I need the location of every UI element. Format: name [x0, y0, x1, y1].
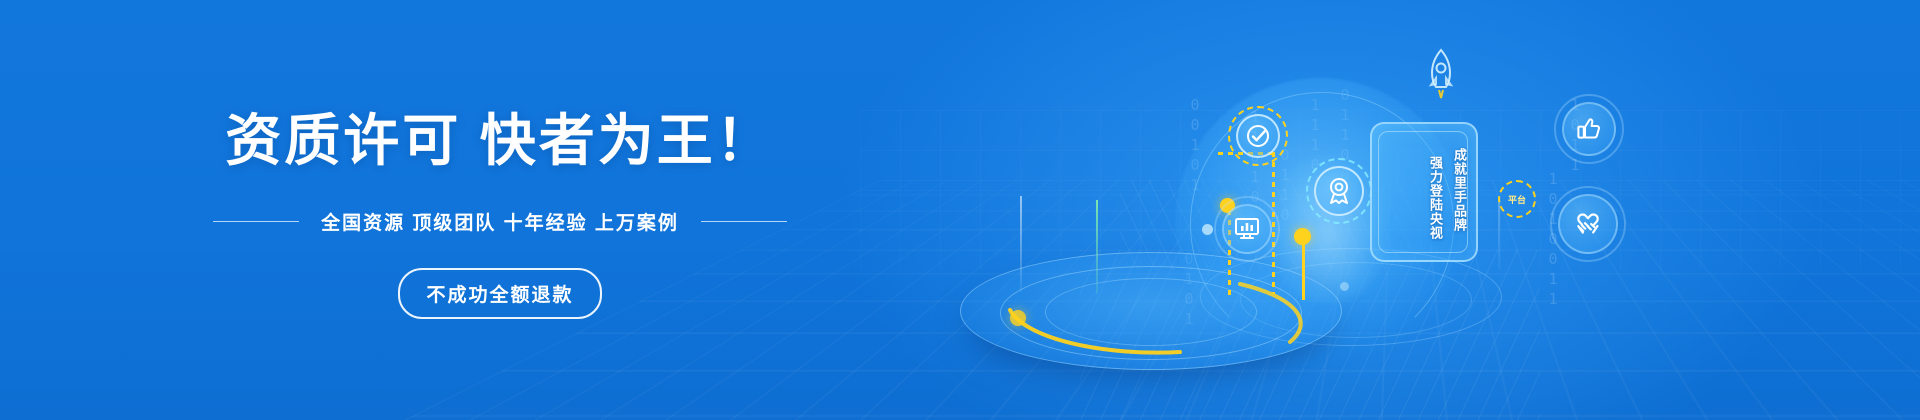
accent-dot-yellow	[1294, 228, 1311, 245]
monitor-chart-icon[interactable]	[1222, 204, 1272, 254]
banner-content: 资质许可 快者为王！ 全国资源 顶级团队 十年经验 上万案例 不成功全额退款	[0, 0, 1000, 420]
award-ribbon-icon[interactable]	[1314, 166, 1364, 216]
tablet-vertical-text-right: 成就里手品牌	[1452, 148, 1466, 232]
platform-arc-decoration	[990, 250, 1330, 370]
tablet-vertical-text-left: 强力登陆央视	[1428, 156, 1442, 240]
rocket-icon	[1424, 48, 1458, 107]
cta-wrapper: 不成功全额退款	[0, 268, 1000, 319]
page-title: 资质许可 快者为王！	[0, 108, 1000, 174]
check-circle-icon[interactable]	[1236, 114, 1280, 158]
refund-guarantee-button[interactable]: 不成功全额退款	[398, 268, 601, 319]
promo-banner: 00101 11010 0110 1110 011000 1011 101001…	[0, 0, 1920, 420]
handshake-heart-icon[interactable]	[1558, 194, 1618, 254]
thumbs-up-icon[interactable]	[1562, 102, 1616, 156]
platform-tag-label: 平台	[1508, 193, 1526, 206]
platform-tag: 平台	[1498, 180, 1536, 218]
accent-dot-white	[1340, 282, 1349, 291]
accent-dot-white	[1202, 224, 1213, 235]
subtitle-row: 全国资源 顶级团队 十年经验 上万案例	[0, 208, 1000, 235]
subtitle-rule-right	[701, 221, 787, 222]
subtitle-rule-left	[213, 221, 299, 222]
subtitle-text: 全国资源 顶级团队 十年经验 上万案例	[321, 208, 679, 235]
